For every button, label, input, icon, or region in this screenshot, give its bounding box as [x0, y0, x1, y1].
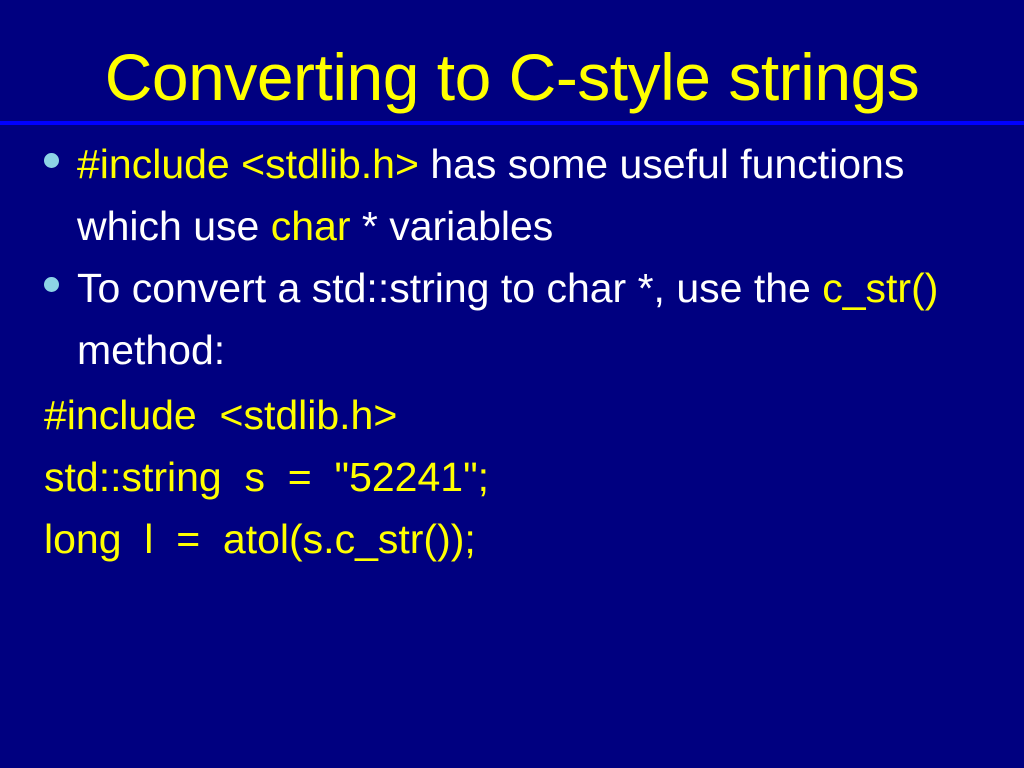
bullet-text-2: To convert a std::string to char *, use … — [77, 257, 984, 381]
page-title: Converting to C-style strings — [105, 40, 919, 114]
slide-title-block: Converting to C-style strings — [0, 34, 1024, 120]
code-line-1: #include <stdlib.h> — [44, 384, 1024, 446]
bullet-1-seg-2: char — [271, 203, 351, 249]
title-divider-rule — [0, 121, 1024, 125]
bullet-2-seg-2: method: — [77, 327, 225, 373]
bullet-2-seg-1: c_str() — [822, 265, 938, 311]
bullet-dot-icon — [44, 153, 59, 168]
bullet-dot-icon — [44, 277, 59, 292]
slide-body: #include <stdlib.h> has some useful func… — [0, 133, 1024, 381]
slide: Converting to C-style strings #include <… — [0, 0, 1024, 768]
list-item: #include <stdlib.h> has some useful func… — [0, 133, 1024, 257]
bullet-2-seg-0: To convert a std::string to char *, use … — [77, 265, 822, 311]
code-line-2: std::string s = "52241"; — [44, 446, 1024, 508]
code-line-3: long l = atol(s.c_str()); — [44, 508, 1024, 570]
bullet-1-seg-3: * variables — [350, 203, 553, 249]
bullet-text-1: #include <stdlib.h> has some useful func… — [77, 133, 984, 257]
code-block: #include <stdlib.h> std::string s = "522… — [0, 384, 1024, 570]
list-item: To convert a std::string to char *, use … — [0, 257, 1024, 381]
bullet-1-seg-0: #include <stdlib.h> — [77, 141, 419, 187]
